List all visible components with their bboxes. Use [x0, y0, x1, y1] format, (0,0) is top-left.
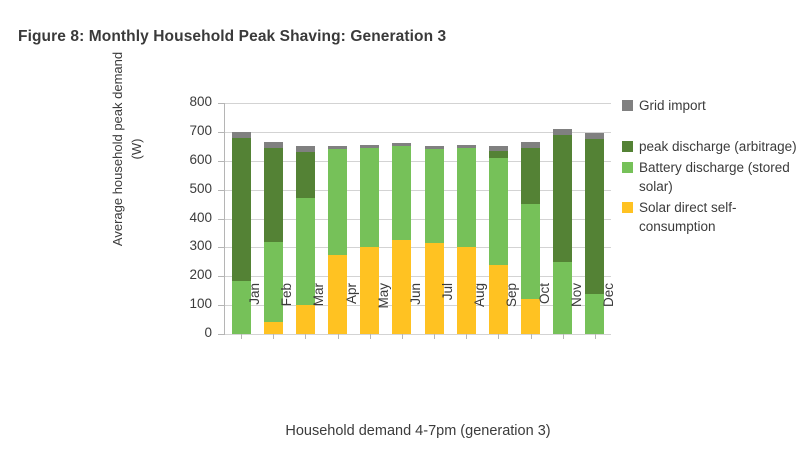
segment-peak-discharge — [489, 151, 508, 158]
x-axis-tick-label: Sep — [504, 283, 519, 343]
segment-peak-discharge — [521, 148, 540, 204]
segment-battery-discharge — [457, 148, 476, 248]
y-axis-tick-label: 600 — [152, 152, 212, 167]
x-axis-tick-label: Jul — [440, 283, 455, 343]
segment-peak-discharge — [553, 135, 572, 262]
segment-peak-discharge — [296, 152, 315, 198]
y-axis-tick — [218, 305, 224, 306]
y-axis-tick — [218, 247, 224, 248]
y-axis-tick — [218, 190, 224, 191]
chart-legend: Grid importpeak discharge (arbitrage) Ba… — [622, 96, 800, 238]
segment-battery-discharge — [489, 158, 508, 265]
segment-peak-discharge — [232, 138, 251, 281]
segment-battery-discharge — [425, 149, 444, 243]
x-axis-tick — [595, 334, 596, 339]
x-axis-tick — [402, 334, 403, 339]
y-axis-tick-label: 700 — [152, 123, 212, 138]
y-axis-tick-labels: 8007006005004003002001000 — [150, 0, 212, 461]
segment-peak-discharge — [264, 148, 283, 242]
y-axis-tick — [218, 334, 224, 335]
x-axis-tick — [434, 334, 435, 339]
x-axis-tick-label: Feb — [279, 283, 294, 343]
gridline — [225, 103, 611, 104]
y-axis-tick-label: 200 — [152, 267, 212, 282]
x-axis-title: Household demand 4-7pm (generation 3) — [225, 423, 611, 439]
x-axis-tick-label: Jan — [247, 283, 262, 343]
x-axis-tick-label: Apr — [344, 283, 359, 343]
y-axis-tick — [218, 161, 224, 162]
x-axis-tick-label: Aug — [472, 283, 487, 343]
x-axis-tick — [273, 334, 274, 339]
y-axis-tick — [218, 276, 224, 277]
y-axis-tick — [218, 219, 224, 220]
legend-entry[interactable]: Battery discharge (stored solar) — [622, 158, 800, 196]
y-axis-tick-label: 300 — [152, 238, 212, 253]
x-axis-tick — [370, 334, 371, 339]
y-axis-tick — [218, 103, 224, 104]
bar-chart: Average household peak demand (W) 800700… — [0, 0, 800, 461]
x-axis-tick — [498, 334, 499, 339]
x-axis-tick-label: May — [376, 283, 391, 343]
y-axis-title-line2: (W) — [127, 14, 146, 284]
x-axis-tick-label: Dec — [601, 283, 616, 343]
segment-peak-discharge — [585, 139, 604, 293]
y-axis-tick-label: 500 — [152, 181, 212, 196]
legend-swatch-icon — [622, 202, 633, 213]
x-axis-tick — [466, 334, 467, 339]
legend-label: Grid import — [639, 96, 706, 115]
legend-label: Solar direct self-consumption — [639, 198, 800, 236]
segment-battery-discharge — [392, 146, 411, 240]
x-axis-tick — [531, 334, 532, 339]
legend-label: Battery discharge (stored solar) — [639, 158, 800, 196]
y-axis-title: Average household peak demand (W) — [108, 14, 148, 284]
segment-battery-discharge — [360, 148, 379, 248]
legend-entry[interactable]: Solar direct self-consumption — [622, 198, 800, 236]
segment-battery-discharge — [328, 149, 347, 254]
x-axis-tick-label: Jun — [408, 283, 423, 343]
legend-label: peak discharge (arbitrage) — [639, 137, 797, 156]
y-axis-tick-label: 800 — [152, 94, 212, 109]
x-axis-tick — [305, 334, 306, 339]
legend-swatch-icon — [622, 162, 633, 173]
y-axis-title-line1: Average household peak demand — [108, 14, 127, 284]
x-axis-tick — [241, 334, 242, 339]
legend-entry[interactable]: peak discharge (arbitrage) — [622, 137, 800, 156]
legend-entry[interactable]: Grid import — [622, 96, 800, 115]
legend-swatch-icon — [622, 141, 633, 152]
x-axis-tick — [563, 334, 564, 339]
legend-swatch-icon — [622, 100, 633, 111]
y-axis-tick-label: 0 — [152, 325, 212, 340]
x-axis-tick-label: Nov — [569, 283, 584, 343]
y-axis-tick-label: 100 — [152, 296, 212, 311]
x-axis-tick-label: Oct — [537, 283, 552, 343]
y-axis-tick — [218, 132, 224, 133]
x-axis-tick-label: Mar — [311, 283, 326, 343]
y-axis-tick-label: 400 — [152, 210, 212, 225]
x-axis-tick — [338, 334, 339, 339]
